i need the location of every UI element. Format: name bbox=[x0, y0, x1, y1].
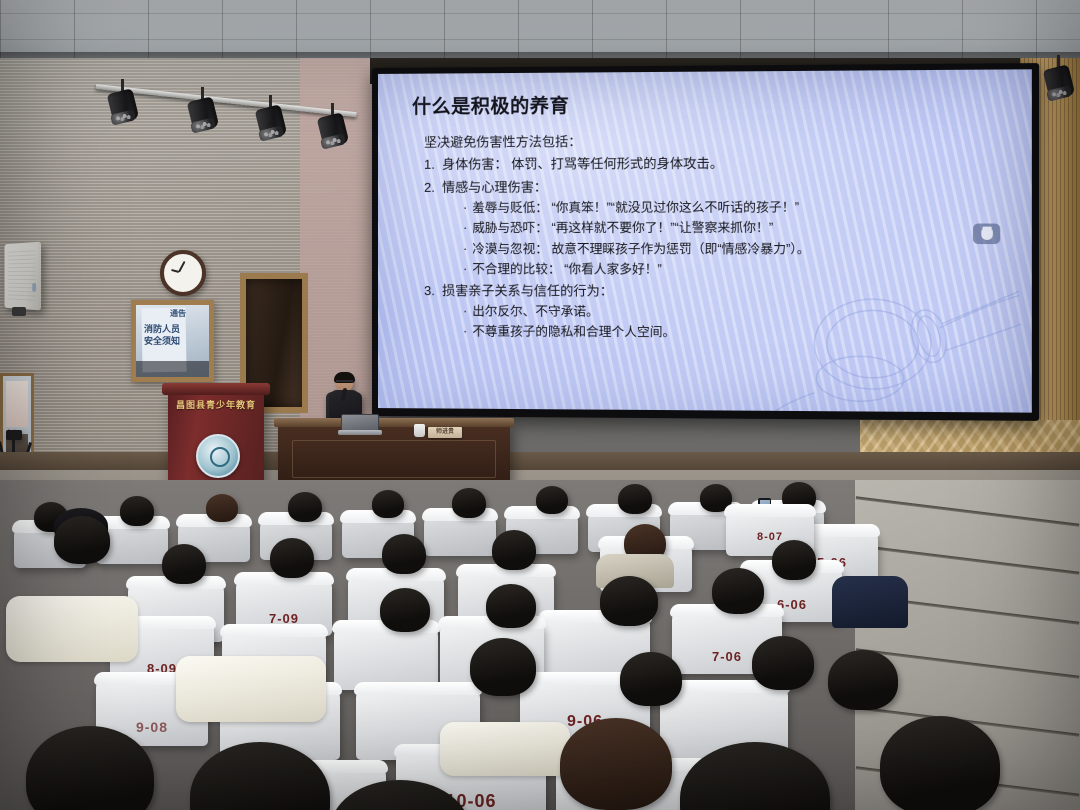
audience-head bbox=[206, 494, 238, 522]
audience-head bbox=[452, 488, 486, 518]
audience-head bbox=[618, 484, 652, 514]
notice-board-heading: 通告 bbox=[170, 309, 186, 319]
nameplate: 师进贵 bbox=[428, 427, 462, 438]
fire-safety-poster bbox=[6, 381, 28, 427]
audience-head bbox=[828, 650, 898, 710]
audience-head bbox=[270, 538, 314, 578]
audience-head bbox=[288, 492, 322, 522]
laptop-icon bbox=[338, 414, 382, 436]
table-row[interactable] bbox=[424, 512, 496, 556]
audience-head bbox=[492, 530, 536, 570]
notice-shadow bbox=[136, 361, 209, 377]
audience-shoulders bbox=[832, 576, 908, 628]
stage-spotlight-icon bbox=[110, 88, 136, 122]
pa-speaker-icon bbox=[4, 242, 41, 311]
projection-screen: 什么是积极的养育 坚决避免伤害性方法包括： 1. 身体伤害： 体罚、打骂等任何形… bbox=[372, 63, 1039, 421]
audience-area: 5-06 8-07 8-06 6-06 7-09 7-10 7-06 8-08 … bbox=[0, 480, 1080, 810]
audience-head bbox=[752, 636, 814, 690]
wall-clock-icon bbox=[160, 250, 206, 296]
speaker-led bbox=[32, 283, 36, 291]
fur-coat bbox=[440, 722, 570, 776]
screen-vignette bbox=[378, 69, 1032, 412]
cup-icon bbox=[414, 424, 425, 437]
podium-plaque: 昌图县青少年教育学院 bbox=[174, 399, 258, 412]
lecture-hall-photo: 通告 消防人员安全须知 栓 bbox=[0, 0, 1080, 810]
audience-head bbox=[120, 496, 154, 526]
fur-coat bbox=[6, 596, 138, 662]
audience-head bbox=[54, 516, 110, 564]
podium-top bbox=[162, 383, 270, 395]
audience-head bbox=[162, 544, 206, 584]
fur-coat bbox=[176, 656, 326, 722]
glasses-icon bbox=[336, 380, 353, 386]
stage-spotlight-icon bbox=[258, 104, 284, 138]
stage-spotlight-icon bbox=[320, 112, 346, 146]
audience-head bbox=[486, 584, 536, 628]
notice-board: 通告 消防人员安全须知 bbox=[131, 300, 214, 382]
audience-head bbox=[620, 652, 682, 706]
head-table bbox=[278, 424, 510, 486]
audience-head bbox=[380, 588, 430, 632]
speaker-grille bbox=[8, 247, 35, 301]
audience-head bbox=[382, 534, 426, 574]
audience-head bbox=[560, 718, 672, 810]
stage-spotlight-icon bbox=[1046, 64, 1072, 98]
notice-board-text: 消防人员安全须知 bbox=[144, 323, 188, 347]
school-emblem-icon bbox=[196, 434, 240, 478]
slide-surface: 什么是积极的养育 坚决避免伤害性方法包括： 1. 身体伤害： 体罚、打骂等任何形… bbox=[378, 69, 1032, 412]
audience-head bbox=[712, 568, 764, 614]
table-row[interactable] bbox=[334, 624, 438, 690]
audience-head bbox=[772, 540, 816, 580]
audience-head bbox=[880, 716, 1000, 810]
audience-head bbox=[536, 486, 568, 514]
stage-spotlight-icon bbox=[190, 96, 216, 130]
speaker-mount bbox=[12, 307, 26, 316]
audience-head bbox=[372, 490, 404, 518]
audience-head bbox=[600, 576, 658, 626]
audience-head bbox=[470, 638, 536, 696]
